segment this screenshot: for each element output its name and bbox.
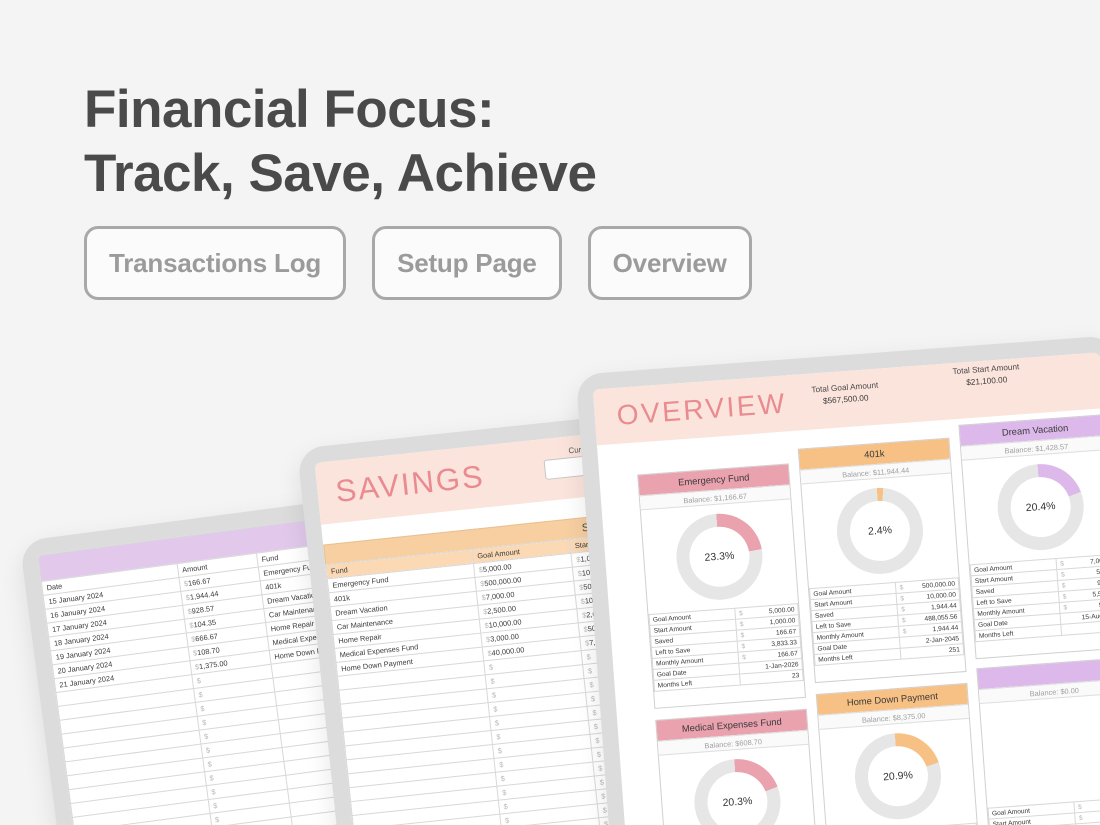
goal-card[interactable]: Medical Expenses FundBalance: $608.7020.…: [655, 709, 824, 825]
goal-card[interactable]: Balance: $0.00Goal Amount$Start Amount$S…: [976, 657, 1100, 825]
poster-stage: Financial Focus: Track, Save, Achieve Tr…: [0, 0, 1100, 825]
page-title: Financial Focus: Track, Save, Achieve: [84, 78, 844, 205]
goal-card-chart: 20.9%: [819, 719, 976, 825]
tablet-overview: OVERVIEW Total Goal Amount $567,500.00 T…: [576, 335, 1100, 825]
progress-donut: 20.3%: [691, 756, 783, 825]
savings-title: SAVINGS: [334, 458, 486, 509]
card-detail-table: Goal Amount$5,000.00Start Amount$1,000.0…: [648, 603, 803, 692]
progress-percent: 2.4%: [834, 485, 926, 577]
progress-percent: 20.3%: [691, 756, 783, 825]
progress-percent: 20.9%: [852, 730, 944, 822]
progress-percent: 23.3%: [673, 511, 765, 603]
overview-cards: Emergency FundBalance: $1,166.6723.3%Goa…: [608, 418, 1100, 825]
goal-card-chart: 23.3%: [641, 499, 798, 614]
goal-card-chart: 20.3%: [659, 745, 816, 825]
total-start-value: $21,100.00: [953, 374, 1020, 388]
headline-line-2: Track, Save, Achieve: [84, 142, 844, 206]
card-detail-table: Goal Amount$500,000.00Start Amount$10,00…: [809, 577, 964, 666]
progress-percent: 20.4%: [995, 461, 1087, 553]
goal-card[interactable]: Emergency FundBalance: $1,166.6723.3%Goa…: [637, 463, 806, 709]
progress-donut: 2.4%: [834, 485, 926, 577]
progress-donut: 23.3%: [673, 511, 765, 603]
goal-card-chart: [980, 693, 1100, 808]
overview-title: OVERVIEW: [594, 387, 788, 433]
goal-card-chart: 2.4%: [801, 474, 958, 589]
page-tabs: Transactions Log Setup Page Overview: [84, 226, 752, 300]
card-detail-table: Goal Amount$7,000.00Start Amount$500.00S…: [970, 553, 1100, 642]
progress-donut: 20.4%: [995, 461, 1087, 553]
goal-card[interactable]: 401kBalance: $11,944.442.4%Goal Amount$5…: [798, 438, 967, 684]
tab-overview[interactable]: Overview: [588, 226, 752, 300]
tab-transactions-log[interactable]: Transactions Log: [84, 226, 346, 300]
total-goal-value: $567,500.00: [812, 393, 879, 407]
total-start-amount: Total Start Amount $21,100.00: [952, 362, 1020, 388]
headline-line-1: Financial Focus:: [84, 78, 844, 142]
total-goal-amount: Total Goal Amount $567,500.00: [811, 381, 879, 407]
progress-donut: 20.9%: [852, 730, 944, 822]
overview-screen: OVERVIEW Total Goal Amount $567,500.00 T…: [593, 352, 1100, 825]
tab-setup-page[interactable]: Setup Page: [372, 226, 562, 300]
goal-card-chart: 20.4%: [962, 450, 1100, 565]
goal-card[interactable]: Home Down PaymentBalance: $8,375.0020.9%…: [816, 683, 985, 825]
goal-card[interactable]: Dream VacationBalance: $1,428.5720.4%Goa…: [958, 414, 1100, 660]
